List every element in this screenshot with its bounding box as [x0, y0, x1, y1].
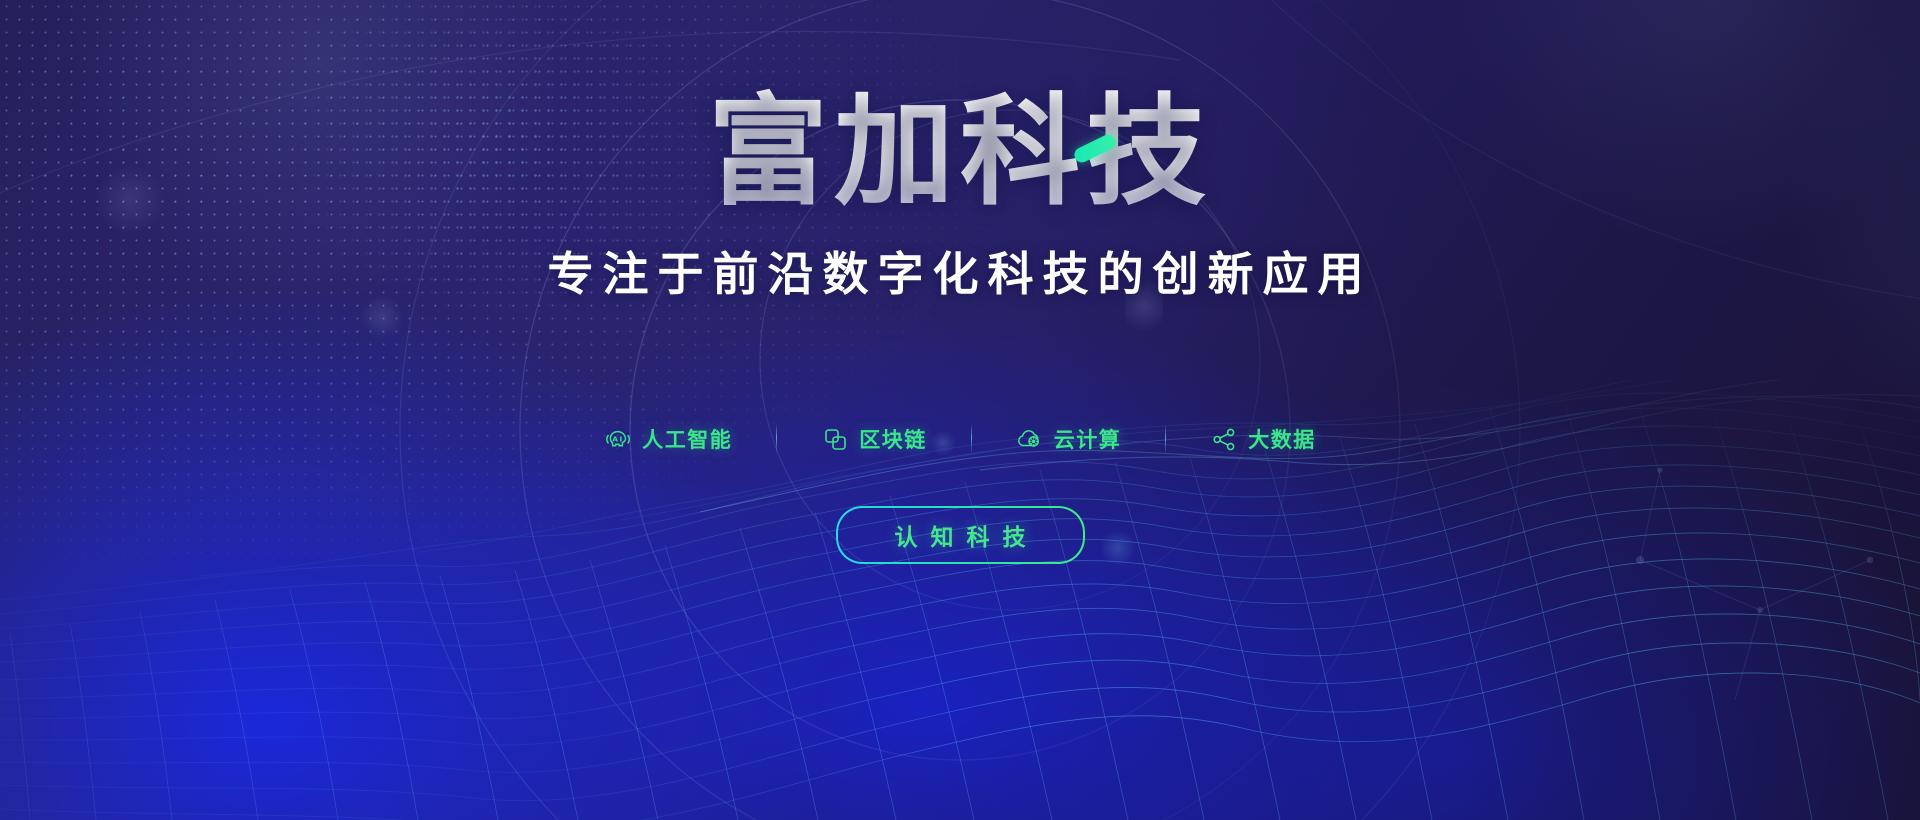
hero-banner: 富加科技 专注于前沿数字化科技的创新应用 AI 人工智能	[0, 0, 1920, 820]
ai-head-icon: AI	[604, 425, 632, 453]
svg-text:AI: AI	[613, 434, 624, 443]
feature-badge-blockchain[interactable]: 区块链	[777, 424, 971, 454]
blockchain-blocks-icon	[821, 425, 849, 453]
feature-badge-cloud[interactable]: 云计算	[972, 424, 1166, 454]
hero-subtitle: 专注于前沿数字化科技的创新应用	[0, 238, 1920, 304]
feature-badge-list: AI 人工智能 区块链	[0, 424, 1920, 454]
feature-label-bigdata: 大数据	[1248, 424, 1316, 454]
feature-label-cloud: 云计算	[1054, 424, 1122, 454]
feature-badge-bigdata[interactable]: 大数据	[1166, 424, 1360, 454]
share-nodes-icon	[1210, 425, 1238, 453]
cloud-gear-icon	[1016, 425, 1044, 453]
cognitive-tech-button[interactable]: 认知科技	[836, 506, 1085, 564]
feature-label-ai: 人工智能	[642, 424, 732, 454]
feature-label-blockchain: 区块链	[859, 424, 927, 454]
page-title: 富加科技	[0, 88, 1920, 218]
feature-badge-ai[interactable]: AI 人工智能	[560, 424, 776, 454]
